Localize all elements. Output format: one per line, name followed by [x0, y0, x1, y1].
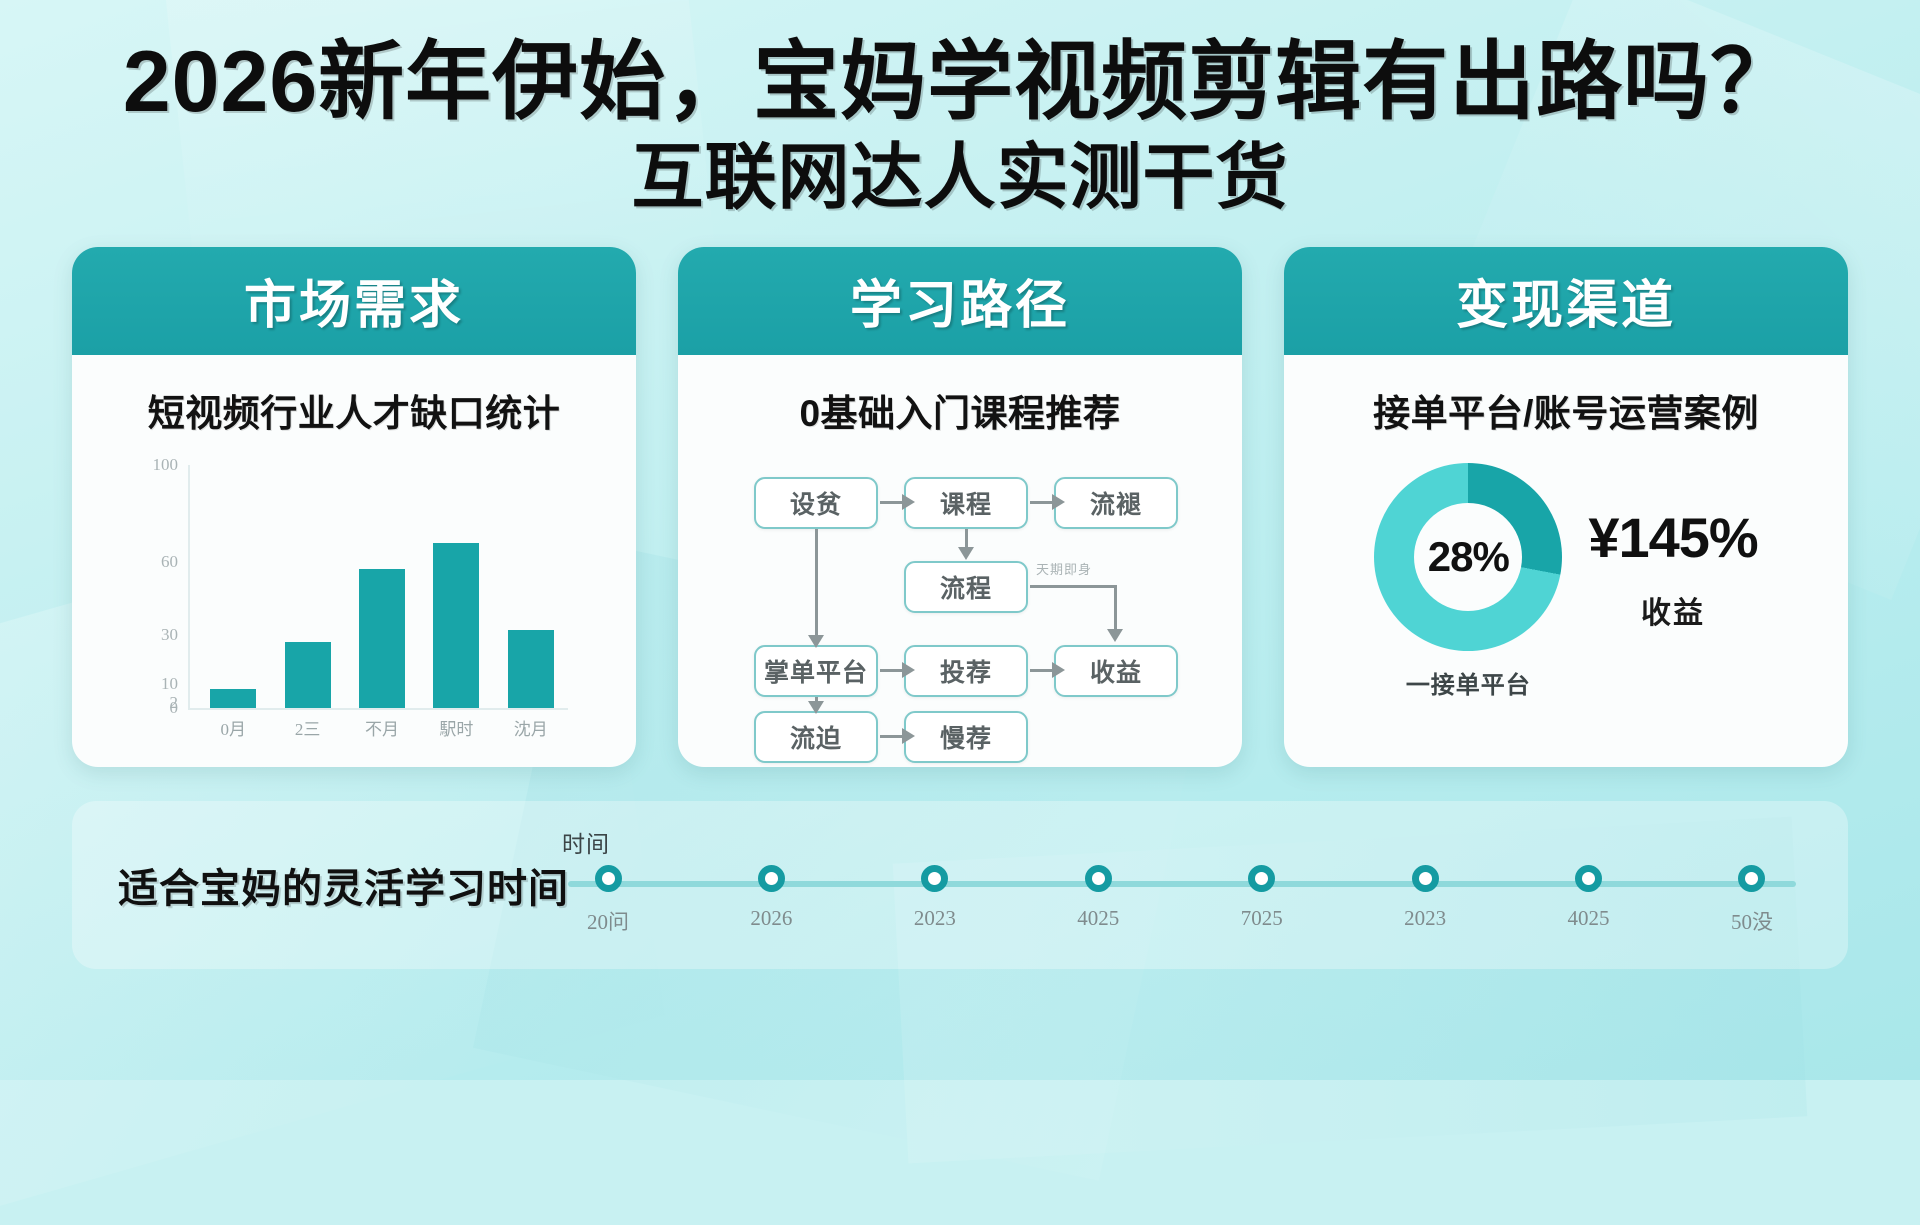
flow-node-liutui[interactable]: 流褪	[1054, 477, 1178, 529]
bar-column	[505, 465, 557, 708]
headline-block: 2026新年伊始，宝妈学视频剪辑有出路吗？ 互联网达人实测干货	[0, 0, 1920, 219]
cards-row: 市场需求 短视频行业人才缺口统计 10060301020 0月2三不月駅时沈月 …	[0, 219, 1920, 767]
bar-chart-x-labels: 0月2三不月駅时沈月	[196, 715, 568, 740]
flow-node-shebei[interactable]: 设贫	[754, 477, 878, 529]
bar-column	[430, 465, 482, 708]
flow-arrow-4-head-icon	[808, 635, 824, 648]
card-subtitle-market-demand: 短视频行业人才缺口统计	[148, 383, 561, 437]
card-body-monetization: 接单平台/账号运营案例 28% 一接单平台 ¥145% 收益	[1284, 355, 1848, 767]
flow-node-touijian[interactable]: 投荐	[904, 645, 1028, 697]
flow-note-label: 天期即身	[1036, 559, 1092, 578]
timeline-point-label: 2023	[1404, 906, 1446, 931]
bar-chart-plot-area	[196, 465, 568, 708]
donut-value-label: 28%	[1428, 533, 1509, 581]
revenue-row: 28% 一接单平台 ¥145% 收益	[1346, 463, 1786, 700]
bar	[359, 569, 405, 708]
timeline-point-label: 7025	[1241, 906, 1283, 931]
x-axis-label: 駅时	[430, 715, 482, 740]
card-market-demand[interactable]: 市场需求 短视频行业人才缺口统计 10060301020 0月2三不月駅时沈月	[72, 247, 636, 767]
kpi-label: 收益	[1641, 588, 1705, 632]
flow-node-jiedan[interactable]: 掌单平台	[754, 645, 878, 697]
timeline-dot-icon[interactable]	[595, 865, 622, 892]
card-header-monetization: 变现渠道	[1284, 247, 1848, 355]
bar	[433, 543, 479, 708]
headline-line-2: 互联网达人实测干货	[0, 138, 1920, 219]
y-axis-tick: 10	[161, 674, 178, 694]
donut-center: 28%	[1414, 503, 1522, 611]
timeline-points: 20问20262023402570252023402550没	[558, 865, 1802, 936]
timeline-dot-icon[interactable]	[1575, 865, 1602, 892]
timeline-point[interactable]: 2023	[1379, 865, 1471, 936]
x-axis-label: 沈月	[505, 715, 557, 740]
card-header-title: 变现渠道	[1456, 263, 1676, 338]
infographic-page: 2026新年伊始，宝妈学视频剪辑有出路吗？ 互联网达人实测干货 市场需求 短视频…	[0, 0, 1920, 1080]
card-header-title: 学习路径	[850, 263, 1070, 338]
bar-chart: 10060301020 0月2三不月駅时沈月	[134, 465, 574, 745]
y-axis-tick: 60	[161, 552, 178, 572]
flow-node-kecheng[interactable]: 课程	[904, 477, 1028, 529]
y-axis-tick: 0	[170, 698, 179, 718]
donut-legend-label: 一接单平台	[1406, 665, 1531, 700]
donut-chart-block: 28% 一接单平台	[1374, 463, 1562, 700]
timeline-point-label: 2026	[750, 906, 792, 931]
flow-arrow-2-head-icon	[1052, 494, 1065, 510]
card-header-learning-path: 学习路径	[678, 247, 1242, 355]
y-axis-tick: 30	[161, 625, 178, 645]
flow-node-liupo[interactable]: 流迫	[754, 711, 878, 763]
bar	[285, 642, 331, 708]
bar-column	[356, 465, 408, 708]
flow-arrow-5-head-icon	[902, 662, 915, 678]
bar-chart-y-axis: 10060301020	[134, 465, 186, 710]
x-axis-label: 不月	[356, 715, 408, 740]
flow-arrow-1-head-icon	[902, 494, 915, 510]
timeline-point[interactable]: 2023	[889, 865, 981, 936]
x-axis-line	[188, 708, 568, 710]
card-subtitle-learning-path: 0基础入门课程推荐	[799, 383, 1120, 437]
flow-arrow-6-head-icon	[1052, 662, 1065, 678]
flow-node-shouyi[interactable]: 收益	[1054, 645, 1178, 697]
card-monetization[interactable]: 变现渠道 接单平台/账号运营案例 28% 一接单平台 ¥145%	[1284, 247, 1848, 767]
headline-line-1: 2026新年伊始，宝妈学视频剪辑有出路吗？	[0, 34, 1920, 130]
y-axis-line	[188, 465, 190, 710]
timeline-point[interactable]: 50没	[1706, 865, 1798, 936]
card-body-learning-path: 0基础入门课程推荐 设贫 课程 流褪 流程 掌单平台 投荐 收益 流迫 慢荐	[678, 355, 1242, 767]
flow-arrow-4	[815, 529, 818, 641]
timeline-dot-icon[interactable]	[1738, 865, 1765, 892]
kpi-block: ¥145% 收益	[1588, 505, 1757, 658]
flow-chart: 设贫 课程 流褪 流程 掌单平台 投荐 收益 流迫 慢荐	[740, 463, 1180, 745]
y-axis-tick: 100	[153, 455, 179, 475]
timeline-point[interactable]: 2026	[725, 865, 817, 936]
flow-arrow-3-head-icon	[958, 547, 974, 560]
bar	[508, 630, 554, 708]
bar-column	[207, 465, 259, 708]
card-header-market-demand: 市场需求	[72, 247, 636, 355]
timeline-point[interactable]: 20问	[562, 865, 654, 936]
kpi-value: ¥145%	[1588, 505, 1757, 570]
donut-chart: 28%	[1374, 463, 1562, 651]
flow-node-liucheng[interactable]: 流程	[904, 561, 1028, 613]
flow-arrow-7	[1030, 585, 1116, 588]
timeline-dot-icon[interactable]	[1085, 865, 1112, 892]
flow-arrow-9-head-icon	[902, 728, 915, 744]
timeline-point-label: 20问	[587, 906, 629, 936]
card-subtitle-monetization: 接单平台/账号运营案例	[1373, 383, 1759, 437]
bottom-timeline-panel: 适合宝妈的灵活学习时间 时间 20问2026202340257025202340…	[72, 801, 1848, 969]
card-body-market-demand: 短视频行业人才缺口统计 10060301020 0月2三不月駅时沈月	[72, 355, 636, 767]
flow-arrow-7-head-icon	[1107, 629, 1123, 642]
x-axis-label: 2三	[282, 715, 334, 740]
timeline-point[interactable]: 7025	[1216, 865, 1308, 936]
timeline-dot-icon[interactable]	[1412, 865, 1439, 892]
timeline-caption: 时间	[562, 825, 610, 859]
timeline-dot-icon[interactable]	[921, 865, 948, 892]
timeline-dot-icon[interactable]	[758, 865, 785, 892]
timeline-point-label: 4025	[1568, 906, 1610, 931]
card-header-title: 市场需求	[244, 263, 464, 338]
flow-arrow-7b	[1114, 585, 1117, 633]
timeline-point[interactable]: 4025	[1543, 865, 1635, 936]
timeline-point-label: 2023	[914, 906, 956, 931]
bottom-panel-title: 适合宝妈的灵活学习时间	[118, 856, 558, 914]
timeline-dot-icon[interactable]	[1248, 865, 1275, 892]
bar-column	[282, 465, 334, 708]
x-axis-label: 0月	[207, 715, 259, 740]
timeline: 时间 20问20262023402570252023402550没	[558, 825, 1802, 945]
flow-node-manjian[interactable]: 慢荐	[904, 711, 1028, 763]
timeline-point-label: 50没	[1731, 906, 1773, 936]
flow-arrow-8-head-icon	[808, 701, 824, 714]
bar	[210, 689, 256, 708]
timeline-point[interactable]: 4025	[1052, 865, 1144, 936]
timeline-point-label: 4025	[1077, 906, 1119, 931]
card-learning-path[interactable]: 学习路径 0基础入门课程推荐 设贫 课程 流褪 流程 掌单平台 投荐 收益 流迫…	[678, 247, 1242, 767]
